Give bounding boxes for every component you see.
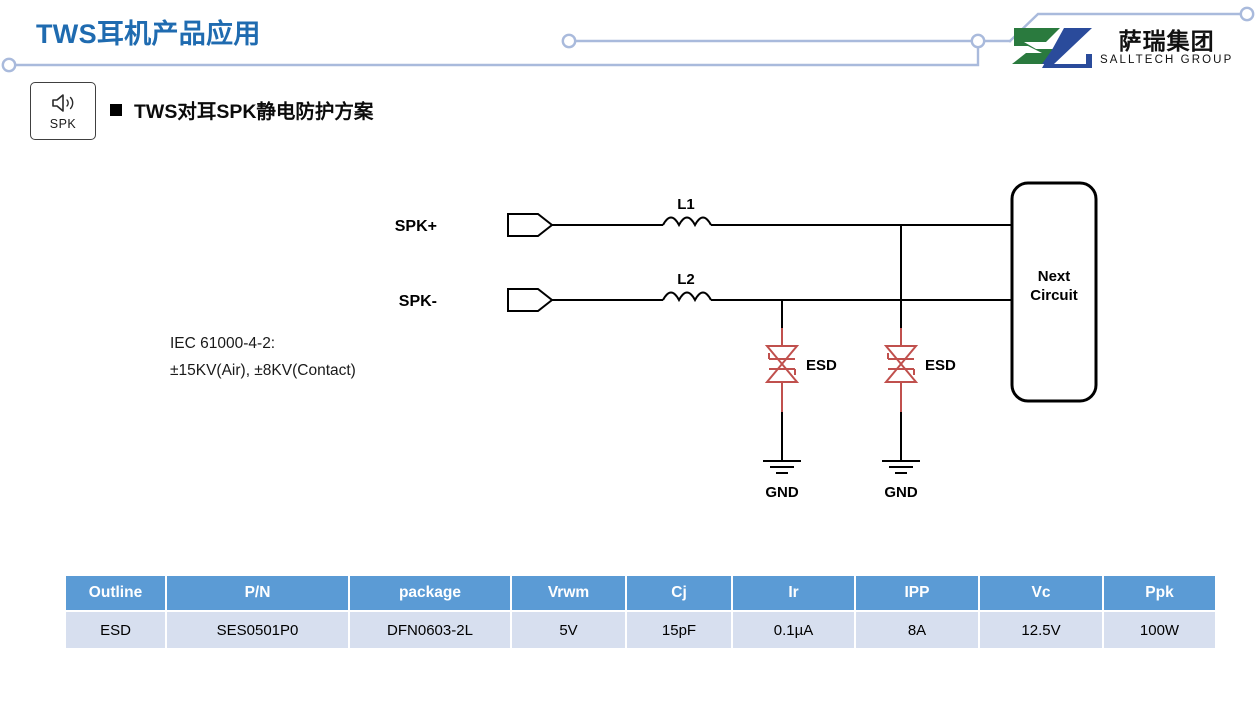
cell-ir: 0.1µA xyxy=(733,612,854,648)
salltech-logo-icon xyxy=(1008,24,1094,72)
column-header-pn: P/N xyxy=(167,576,348,610)
cell-pn: SES0501P0 xyxy=(167,612,348,648)
table-row: ESD SES0501P0 DFN0603-2L 5V 15pF 0.1µA 8… xyxy=(66,612,1215,648)
column-header-ppk: Ppk xyxy=(1104,576,1215,610)
spec-table: Outline P/N package Vrwm Cj Ir IPP Vc Pp… xyxy=(64,574,1217,650)
column-header-ir: Ir xyxy=(733,576,854,610)
column-header-outline: Outline xyxy=(66,576,165,610)
deco-node-right xyxy=(1241,8,1253,20)
deco-node-middle xyxy=(563,35,575,47)
esd-branch-1 xyxy=(763,300,801,473)
section-heading-text: TWS对耳SPK静电防护方案 xyxy=(134,95,373,124)
column-header-package: package xyxy=(350,576,510,610)
bullet-square-icon xyxy=(110,104,122,116)
gnd-label-1: GND xyxy=(765,484,799,501)
port-label-spk-minus: SPK- xyxy=(399,293,437,310)
section-heading: TWS对耳SPK静电防护方案 xyxy=(110,95,373,124)
column-header-cj: Cj xyxy=(627,576,731,610)
column-header-ipp: IPP xyxy=(856,576,978,610)
inductor-label-l2: L2 xyxy=(677,271,695,288)
deco-node-left xyxy=(3,59,15,71)
cell-ppk: 100W xyxy=(1104,612,1215,648)
esd-branch-2 xyxy=(882,225,920,473)
esd-label-1: ESD xyxy=(806,357,837,374)
slide-root: TWS耳机产品应用 萨瑞集团 SALLTECH GROUP SPK TWS对耳S… xyxy=(0,0,1256,704)
port-label-spk-plus: SPK+ xyxy=(395,218,437,235)
brand-name-cn: 萨瑞集团 xyxy=(1119,29,1215,53)
spk-badge-label: SPK xyxy=(50,117,77,131)
cell-cj: 15pF xyxy=(627,612,731,648)
brand-name-en: SALLTECH GROUP xyxy=(1100,54,1233,68)
column-header-vc: Vc xyxy=(980,576,1102,610)
cell-package: DFN0603-2L xyxy=(350,612,510,648)
esd-protection-schematic: SPK+ SPK- L1 L2 xyxy=(0,150,1256,550)
connector-spk-minus xyxy=(508,289,552,311)
gnd-label-2: GND xyxy=(884,484,918,501)
cell-vrwm: 5V xyxy=(512,612,625,648)
cell-ipp: 8A xyxy=(856,612,978,648)
brand-logo-text: 萨瑞集团 SALLTECH GROUP xyxy=(1100,29,1233,68)
net-spk-plus xyxy=(552,218,1012,226)
next-circuit-label-line-2: Circuit xyxy=(1030,287,1078,304)
table-header-row: Outline P/N package Vrwm Cj Ir IPP Vc Pp… xyxy=(66,576,1215,610)
column-header-vrwm: Vrwm xyxy=(512,576,625,610)
net-spk-minus xyxy=(552,293,1012,301)
next-circuit-label-line-1: Next xyxy=(1038,268,1071,285)
inductor-label-l1: L1 xyxy=(677,196,695,213)
cell-outline: ESD xyxy=(66,612,165,648)
brand-logo: 萨瑞集团 SALLTECH GROUP xyxy=(1008,21,1238,75)
esd-label-2: ESD xyxy=(925,357,956,374)
spk-badge: SPK xyxy=(30,82,96,140)
deco-node-junction xyxy=(972,35,984,47)
page-title: TWS耳机产品应用 xyxy=(36,12,261,51)
cell-vc: 12.5V xyxy=(980,612,1102,648)
connector-spk-plus xyxy=(508,214,552,236)
speaker-icon xyxy=(50,92,76,114)
